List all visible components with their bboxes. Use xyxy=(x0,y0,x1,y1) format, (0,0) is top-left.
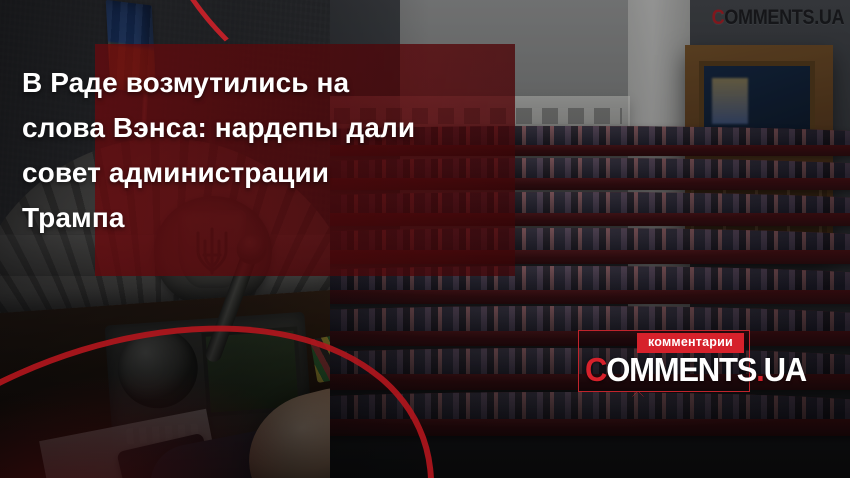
logo-badge: комментарии xyxy=(637,333,744,353)
watermark-rest: OMMENTS.UA xyxy=(724,6,844,29)
logo-word-comments: OMMENTS xyxy=(606,351,756,388)
headline-line-2: слова Вэнса: нардепы дали xyxy=(22,105,492,150)
watermark-c: C xyxy=(711,6,724,29)
headline-text: В Раде возмутились на слова Вэнса: нарде… xyxy=(22,60,492,240)
logo-dot: . xyxy=(756,351,763,388)
comments-ua-logo[interactable]: комментарии COMMENTS.UA xyxy=(578,330,750,392)
logo-letter-c: C xyxy=(585,351,606,388)
headline-line-3: совет администрации xyxy=(22,150,492,195)
logo-wordmark: COMMENTS.UA xyxy=(585,353,806,386)
logo-tld: UA xyxy=(764,351,806,388)
news-share-card: В Раде возмутились на слова Вэнса: нарде… xyxy=(0,0,850,478)
headline-line-4: Трампа xyxy=(22,195,492,240)
headline-line-1: В Раде возмутились на xyxy=(22,60,492,105)
corner-watermark: COMMENTS.UA xyxy=(711,6,844,30)
